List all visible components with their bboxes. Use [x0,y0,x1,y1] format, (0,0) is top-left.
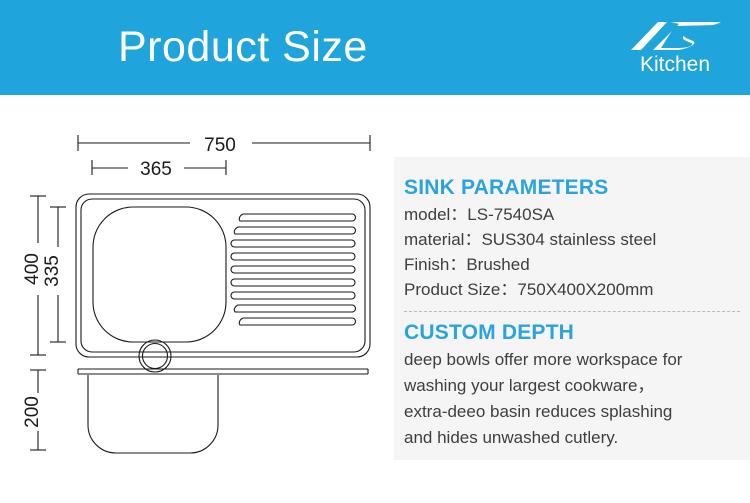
dimension-label-400: 400 [22,253,43,285]
dimension-label-335: 335 [42,255,63,287]
dimension-label-750: 750 [204,135,236,156]
sink-side-view [78,369,368,453]
dimension-label-200: 200 [22,396,43,428]
sink-parameters-section: SINK PARAMETERS model：LS-7540SA material… [404,175,740,302]
drawing-area: 750 365 400 335 200 [0,95,393,503]
drain-hole-circles [139,340,171,372]
spec-product-size: Product Size：750X400X200mm [404,277,740,302]
logo-wordmark: Kitchen [625,53,725,77]
custom-depth-heading: CUSTOM DEPTH [404,320,740,346]
custom-depth-section: CUSTOM DEPTH deep bowls offer more works… [404,320,740,451]
kitchen-logo-icon [631,20,723,55]
page-title: Product Size [118,17,368,77]
sink-top-view [76,194,370,357]
spec-model: model：LS-7540SA [404,202,740,227]
sink-bowl [93,207,226,342]
custom-depth-line-4: and hides unwashed cutlery. [404,425,740,451]
sink-parameters-heading: SINK PARAMETERS [404,175,740,201]
custom-depth-line-1: deep bowls offer more workspace for [404,347,740,373]
drainboard-grooves [231,214,356,325]
custom-depth-line-2: washing your largest cookware， [404,373,740,399]
section-divider [404,311,740,312]
spec-panel: SINK PARAMETERS model：LS-7540SA material… [394,157,750,460]
spec-finish: Finish：Brushed [404,252,740,277]
dimension-label-365: 365 [140,159,172,180]
spec-material: material：SUS304 stainless steel [404,227,740,252]
page-header: Product Size Kitchen [0,0,750,95]
brand-logo: Kitchen [625,20,725,80]
custom-depth-line-3: extra-deeo basin reduces splashing [404,399,740,425]
